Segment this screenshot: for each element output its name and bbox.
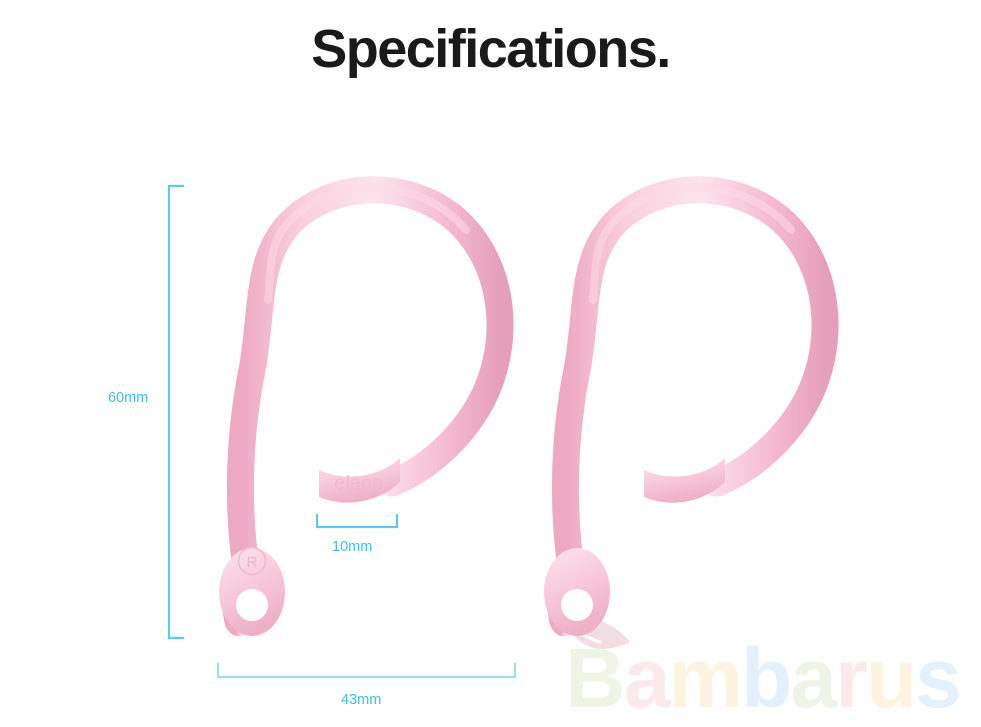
watermark-letter: s xyxy=(915,636,960,720)
watermark-bambarus: Bambarus xyxy=(565,636,960,720)
hook-body-right xyxy=(565,190,825,590)
watermark-letter: r xyxy=(835,636,866,720)
product-illustration: elago R xyxy=(0,0,981,727)
dimension-label-height: 60mm xyxy=(108,390,148,406)
hook-eyelet-hole-right xyxy=(561,589,593,621)
watermark-letter: b xyxy=(741,636,790,720)
hook-tip-pad-right xyxy=(644,458,725,503)
ear-hook-right xyxy=(544,187,825,636)
side-marking-text-left: R xyxy=(247,554,258,571)
dimension-label-width: 43mm xyxy=(341,692,381,708)
dimension-bracket-tip-width xyxy=(317,515,397,527)
hook-eyelet-body-left xyxy=(219,548,285,636)
side-marking-circle-left xyxy=(239,548,266,575)
elago-brand-text: elago xyxy=(335,473,384,494)
specifications-page: Specifications. Bambarus xyxy=(0,0,981,727)
watermark-letter: a xyxy=(790,636,835,720)
hook-body-left xyxy=(240,190,500,590)
ear-hook-left: elago R xyxy=(219,187,500,636)
dimension-label-tip-width: 10mm xyxy=(332,539,372,555)
dimension-bracket-width xyxy=(218,664,515,677)
hook-tip-pad-left xyxy=(319,458,400,503)
hook-eyelet-hole-left xyxy=(236,589,268,621)
watermark-letter: m xyxy=(668,636,741,720)
page-title: Specifications. xyxy=(0,18,981,80)
watermark-letter: B xyxy=(565,636,624,720)
dimension-bracket-height xyxy=(169,186,183,638)
watermark-letter: a xyxy=(624,636,669,720)
watermark-letter: u xyxy=(866,636,915,720)
